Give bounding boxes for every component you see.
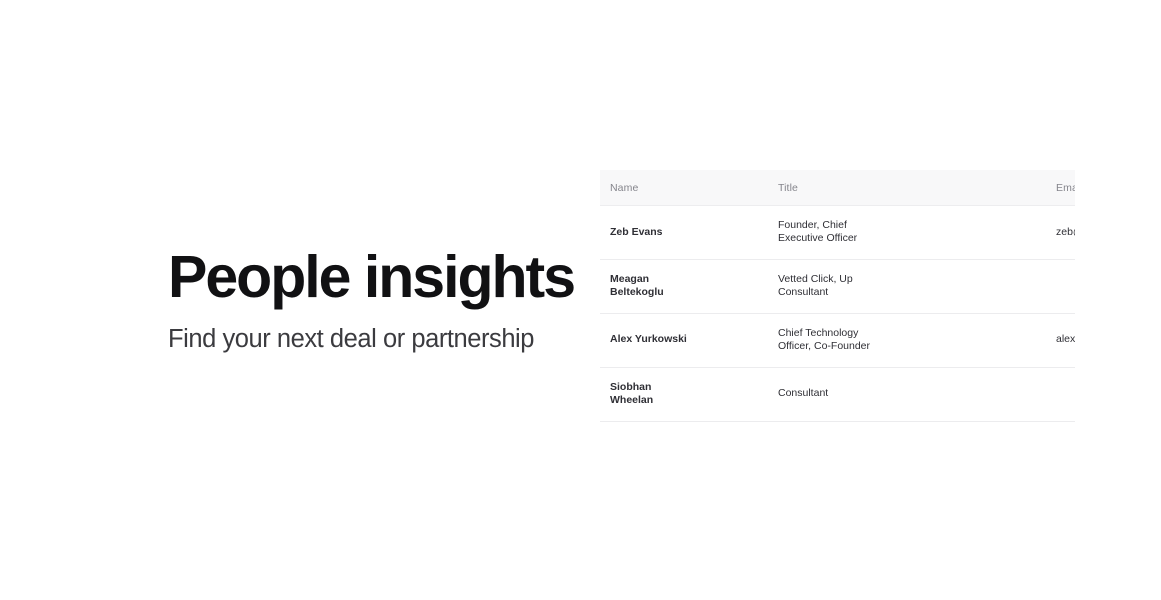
table-header: Name Title Email Personal Email Social [600,170,1075,206]
cell-title: Founder, Chief Executive Officer [694,206,875,260]
cell-email [875,259,1075,313]
column-header-email[interactable]: Email [875,170,1075,206]
page-subtitle: Find your next deal or partnership [168,307,588,354]
column-header-name[interactable]: Name [600,170,694,206]
table-row[interactable]: Meagan BeltekogluVetted Click, Up Consul… [600,259,1075,313]
cell-title: Vetted Click, Up Consultant [694,259,875,313]
column-header-title[interactable]: Title [694,170,875,206]
table-header-row: Name Title Email Personal Email Social [600,170,1075,206]
cell-email: alex@clickup.com [875,313,1075,367]
cell-name: Zachary [600,421,694,430]
cell-name: Siobhan Wheelan [600,367,694,421]
cell-name: Alex Yurkowski [600,313,694,367]
table-row[interactable]: Siobhan WheelanConsultantsiobhan_dugan@y… [600,367,1075,421]
table-row[interactable]: ZacharyDigital Marketingzachary@clickup.… [600,421,1075,430]
cell-email: zeb@clickup.com [875,206,1075,260]
table-body: Zeb EvansFounder, Chief Executive Office… [600,206,1075,431]
cell-name: Meagan Beltekoglu [600,259,694,313]
cell-email [875,367,1075,421]
cell-title: Digital Marketing [694,421,875,430]
cell-email: zachary@clickup.com [875,421,1075,430]
people-table-panel: Name Title Email Personal Email Social Z… [600,170,1075,430]
page-title: People insights [168,248,588,307]
hero-section: People insights Find your next deal or p… [168,248,588,354]
cell-name: Zeb Evans [600,206,694,260]
cell-title: Consultant [694,367,875,421]
cell-title: Chief Technology Officer, Co-Founder [694,313,875,367]
people-table: Name Title Email Personal Email Social Z… [600,170,1075,430]
table-row[interactable]: Zeb EvansFounder, Chief Executive Office… [600,206,1075,260]
table-row[interactable]: Alex YurkowskiChief Technology Officer, … [600,313,1075,367]
